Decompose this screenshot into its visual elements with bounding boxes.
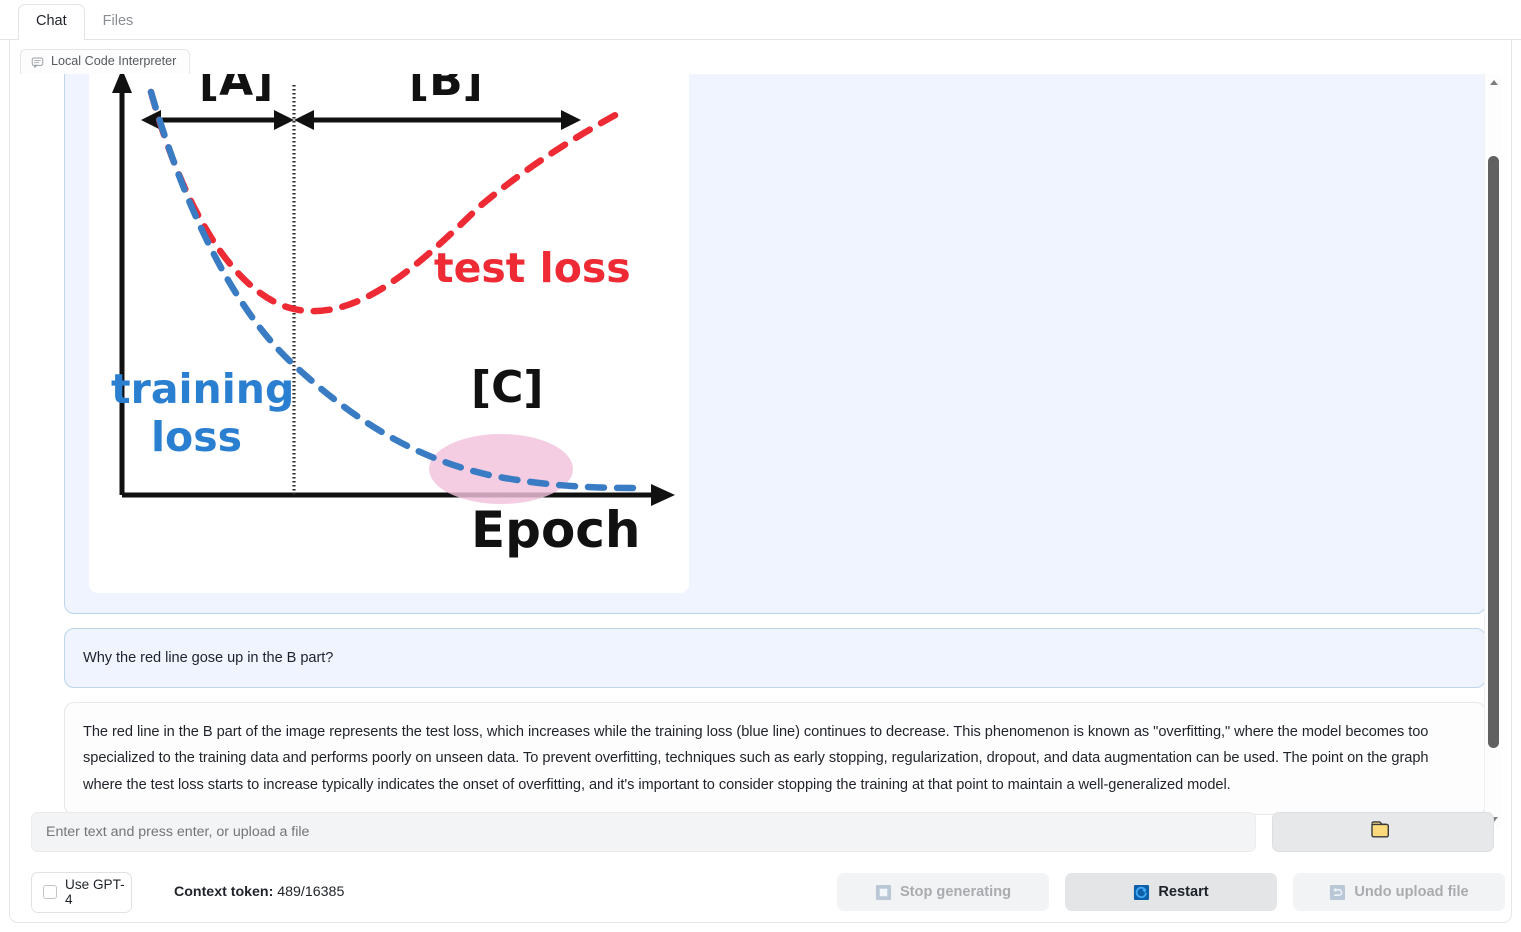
checkbox-box-icon[interactable] [43,885,57,899]
svg-text:[B]: [B] [409,74,483,106]
context-token-value: 489/16385 [277,884,344,900]
overfitting-diagram-image: loss [A] [B] [89,74,689,593]
tab-chat-label: Chat [36,13,67,29]
undo-upload-file-label: Undo upload file [1354,884,1468,900]
svg-text:test loss: test loss [434,244,631,292]
sub-tab-label: Local Code Interpreter [51,55,176,69]
sub-tab-bar: Local Code Interpreter [20,49,190,75]
restart-button[interactable]: Restart [1065,873,1277,911]
svg-text:training: training [111,365,294,413]
tab-chat[interactable]: Chat [18,4,85,40]
stop-generating-button[interactable]: Stop generating [837,873,1049,911]
sub-tab-local-code-interpreter[interactable]: Local Code Interpreter [20,49,190,75]
message-input[interactable] [31,812,1256,852]
stop-square-icon [875,884,892,901]
message-user-image: loss [A] [B] [64,74,1486,614]
restart-label: Restart [1158,884,1208,900]
chat-scrollbar[interactable] [1484,74,1501,828]
undo-upload-file-button[interactable]: Undo upload file [1293,873,1505,911]
chat-panel: Local Code Interpreter loss [9,40,1512,923]
scrollbar-thumb[interactable] [1488,156,1499,748]
message-user-text: Why the red line gose up in the B part? [64,628,1486,688]
window-tab-bar: Chat Files [0,0,1521,40]
chat-scroll-region[interactable]: loss [A] [B] [20,74,1502,828]
svg-text:loss: loss [151,413,242,461]
svg-text:Epoch: Epoch [471,501,641,559]
svg-text:[A]: [A] [199,74,273,106]
triangle-up-icon [1490,80,1498,85]
svg-text:[C]: [C] [471,362,544,413]
comment-icon [31,56,44,69]
message-assistant-body: The red line in the B part of the image … [65,703,1485,814]
tab-files[interactable]: Files [85,4,152,40]
stop-generating-label: Stop generating [900,884,1011,900]
scroll-up-button[interactable] [1485,74,1502,91]
upload-file-button[interactable] [1272,812,1494,852]
context-token-label: Context token: [174,884,273,900]
undo-arrow-icon [1329,884,1346,901]
use-gpt4-checkbox[interactable]: Use GPT-4 [31,872,132,913]
composer-row [31,812,1501,860]
footer-bar: Use GPT-4 Context token: 489/16385 Stop … [31,870,1501,914]
use-gpt4-label: Use GPT-4 [65,877,131,907]
context-token-status: Context token: 489/16385 [174,884,344,900]
message-assistant: The red line in the B part of the image … [64,702,1486,815]
refresh-icon [1133,884,1150,901]
folder-icon [1370,819,1396,846]
tab-files-label: Files [103,13,134,29]
message-user-text-body: Why the red line gose up in the B part? [65,629,1485,687]
